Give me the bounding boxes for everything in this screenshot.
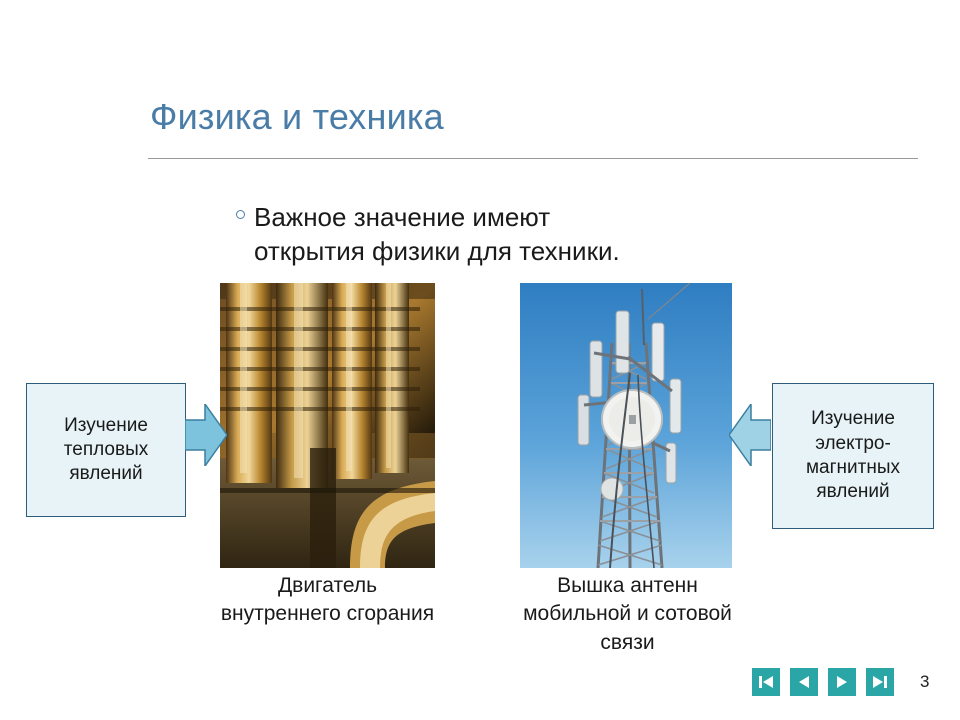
- arrow-right-icon: [185, 404, 227, 471]
- tower-photo-graphic: [520, 283, 732, 568]
- bullet-text: Важное значение имеют открытия физики дл…: [254, 200, 654, 269]
- skip-back-icon[interactable]: [752, 668, 780, 696]
- arrow-left-icon: [729, 404, 771, 471]
- play-forward-icon[interactable]: [828, 668, 856, 696]
- slide: Физика и техника Важное значение имеют о…: [0, 0, 960, 720]
- play-back-icon[interactable]: [790, 668, 818, 696]
- engine-photo-graphic: [220, 283, 435, 568]
- circle-bullet-icon: [236, 210, 254, 219]
- page-number: 3: [920, 672, 929, 692]
- page-title: Физика и техника: [150, 96, 444, 138]
- callout-left-text: Изучение тепловых явлений: [31, 414, 181, 487]
- callout-right-text: Изучение электро-магнитных явлений: [777, 407, 929, 504]
- tower-caption: Вышка антенн мобильной и сотовой связи: [505, 572, 750, 657]
- engine-caption: Двигатель внутреннего сгорания: [220, 572, 435, 629]
- title-divider: [148, 158, 918, 159]
- callout-left: Изучение тепловых явлений: [26, 383, 186, 517]
- skip-forward-icon[interactable]: [866, 668, 894, 696]
- callout-right: Изучение электро-магнитных явлений: [772, 383, 934, 529]
- slide-navigation[interactable]: 3: [752, 668, 929, 696]
- tower-photo: [520, 283, 732, 568]
- bullet-item: Важное значение имеют открытия физики дл…: [236, 200, 876, 269]
- engine-photo: [220, 283, 435, 568]
